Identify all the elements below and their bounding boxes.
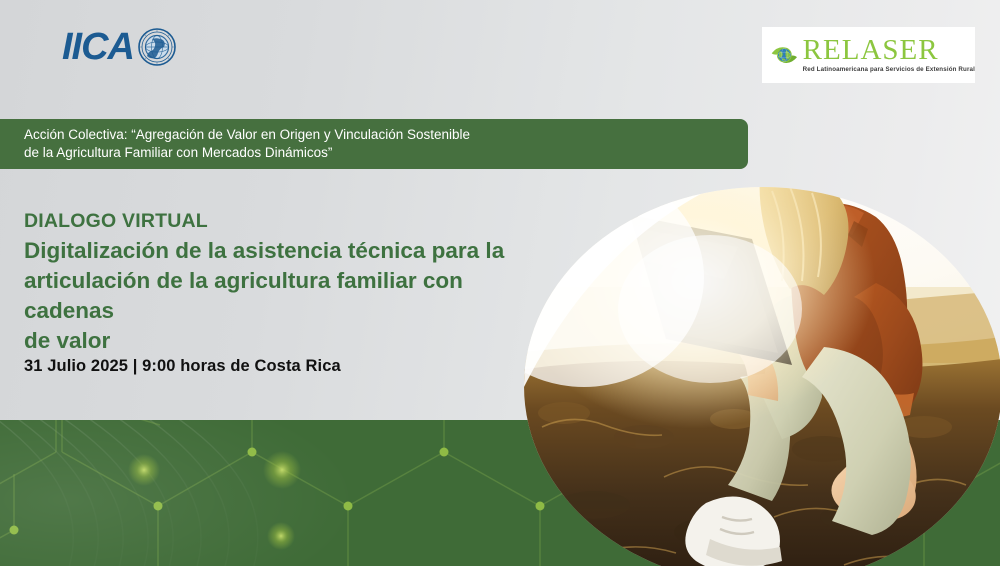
relaser-wordmark: RELASER xyxy=(803,37,975,65)
band-light-sheen xyxy=(0,420,360,566)
relaser-globe-leaf-icon xyxy=(770,35,799,75)
relaser-tagline: Red Latinoamericana para Servicios de Ex… xyxy=(803,66,975,73)
headline-block: DIALOGO VIRTUAL Digitalización de la asi… xyxy=(24,208,554,356)
hero-photo xyxy=(524,187,1000,566)
event-title-line-2: articulación de la agricultura familiar … xyxy=(24,266,554,326)
relaser-logo: RELASER Red Latinoamericana para Servici… xyxy=(762,27,975,83)
poster-canvas: IICA xyxy=(0,0,1000,566)
event-kicker: DIALOGO VIRTUAL xyxy=(24,208,554,234)
event-title-line-3: de valor xyxy=(24,326,554,356)
event-title: Digitalización de la asistencia técnica … xyxy=(24,236,554,356)
collective-action-banner: Acción Colectiva: “Agregación de Valor e… xyxy=(0,119,748,169)
farmer-field-illustration xyxy=(524,187,1000,566)
iica-globe-seal-icon xyxy=(138,28,176,66)
event-datetime: 31 Julio 2025 | 9:00 horas de Costa Rica xyxy=(24,357,341,376)
event-title-line-1: Digitalización de la asistencia técnica … xyxy=(24,236,554,266)
iica-wordmark: IICA xyxy=(62,28,134,66)
iica-logo: IICA xyxy=(62,28,176,66)
collective-action-line-1: Acción Colectiva: “Agregación de Valor e… xyxy=(24,126,728,144)
collective-action-line-2: de la Agricultura Familiar con Mercados … xyxy=(24,144,728,162)
